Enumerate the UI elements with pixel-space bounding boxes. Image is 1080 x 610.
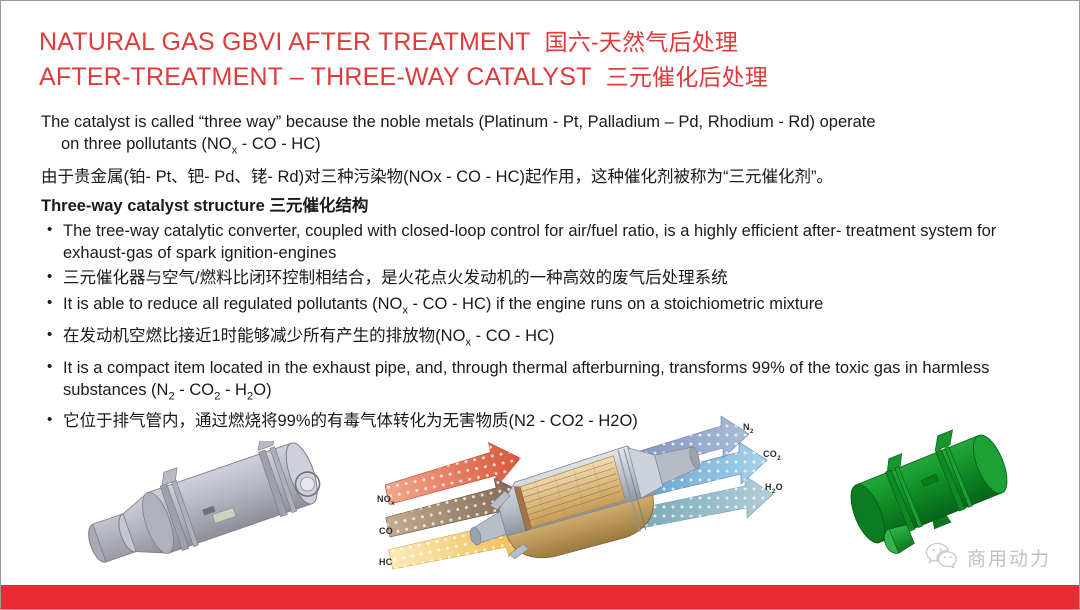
n2-subscript: 2 (750, 428, 754, 435)
title-line-2: AFTER-TREATMENT – THREE-WAY CATALYST三元催化… (39, 60, 1049, 95)
bullet-pollutants-cn-suffix: - CO - HC) (471, 327, 554, 345)
input-label-co: CO (379, 526, 393, 536)
title-line-1: NATURAL GAS GBVI AFTER TREATMENT国六-天然气后处… (39, 25, 1049, 60)
grey-catalytic-converter-cad (59, 441, 349, 571)
intro-paragraph-en: The catalyst is called “three way” becau… (41, 111, 1049, 161)
intro-paragraph-cn: 由于贵金属(铂- Pt、钯- Pd、铑- Rd)对三种污染物(NOx - CO … (41, 165, 1049, 189)
title-line-1-cn: 国六-天然气后处理 (545, 29, 738, 55)
bullet-pollutants-en-prefix: It is able to reduce all regulated pollu… (63, 295, 402, 313)
bottom-accent-bar (1, 585, 1080, 609)
input-label-hc: HC (379, 557, 393, 567)
output-label-n2: N2 (743, 422, 754, 435)
co2-subscript: 2 (777, 455, 781, 462)
slide-body: The catalyst is called “three way” becau… (41, 111, 1049, 436)
output-label-h2o: H2O (765, 482, 783, 495)
bullet-pollutants-en-suffix: - CO - HC) if the engine runs on a stoic… (408, 295, 823, 313)
intro-paragraph-en-line2: on three pollutants (NOx - CO - HC) (41, 133, 1049, 161)
bullet-list: The tree-way catalytic converter, couple… (41, 220, 1049, 433)
nox-subscript: x (391, 500, 395, 507)
h2o-subscript: 2 (772, 488, 776, 495)
intro-paragraph-en-line1: The catalyst is called “three way” becau… (41, 113, 876, 131)
title-line-1-en: NATURAL GAS GBVI AFTER TREATMENT (39, 28, 531, 56)
title-line-2-en: AFTER-TREATMENT – THREE-WAY CATALYST (39, 63, 592, 91)
title-line-2-cn: 三元催化后处理 (606, 64, 768, 90)
bullet-compact-en-line1: It is a compact item located in the exha… (63, 359, 869, 377)
bullet-pollutants-cn-prefix: 在发动机空燃比接近1时能够减少所有产生的排放物(NO (63, 327, 465, 345)
slide-title-block: NATURAL GAS GBVI AFTER TREATMENT国六-天然气后处… (39, 25, 1049, 95)
bullet-compact-en: It is a compact item located in the exha… (41, 357, 1049, 407)
watermark: 商用动力 (925, 542, 1051, 573)
compact-line2-c: - H (220, 381, 247, 399)
input-label-nox: NOx (377, 494, 395, 507)
bullet-converter-cn: 三元催化器与空气/燃料比闭环控制相结合，是火花点火发动机的一种高效的废气后处理系… (41, 266, 1049, 290)
intro-line2-prefix: on three pollutants (NO (61, 135, 232, 153)
wechat-icon (925, 542, 959, 573)
compact-line2-d: O) (253, 381, 271, 399)
slide-canvas: NATURAL GAS GBVI AFTER TREATMENT国六-天然气后处… (0, 0, 1080, 610)
output-label-co2: CO2 (763, 449, 781, 462)
bullet-pollutants-cn: 在发动机空燃比接近1时能够减少所有产生的排放物(NOx - CO - HC) (41, 324, 1049, 354)
three-way-catalyst-cutaway-diagram: NOx CO HC N2 CO2 H2O (373, 414, 803, 586)
watermark-text: 商用动力 (967, 544, 1051, 571)
green-catalytic-converter-cad (829, 426, 1044, 556)
bullet-pollutants-en: It is able to reduce all regulated pollu… (41, 293, 1049, 321)
bullet-converter-en: The tree-way catalytic converter, couple… (41, 220, 1049, 264)
compact-line2-b: - CO (175, 381, 214, 399)
figure-row: NOx CO HC N2 CO2 H2O (1, 406, 1080, 586)
section-subheading: Three-way catalyst structure 三元催化结构 (41, 195, 1049, 217)
bullet-converter-en-line1: The tree-way catalytic converter, couple… (63, 222, 841, 240)
intro-line2-suffix: - CO - HC) (237, 135, 320, 153)
